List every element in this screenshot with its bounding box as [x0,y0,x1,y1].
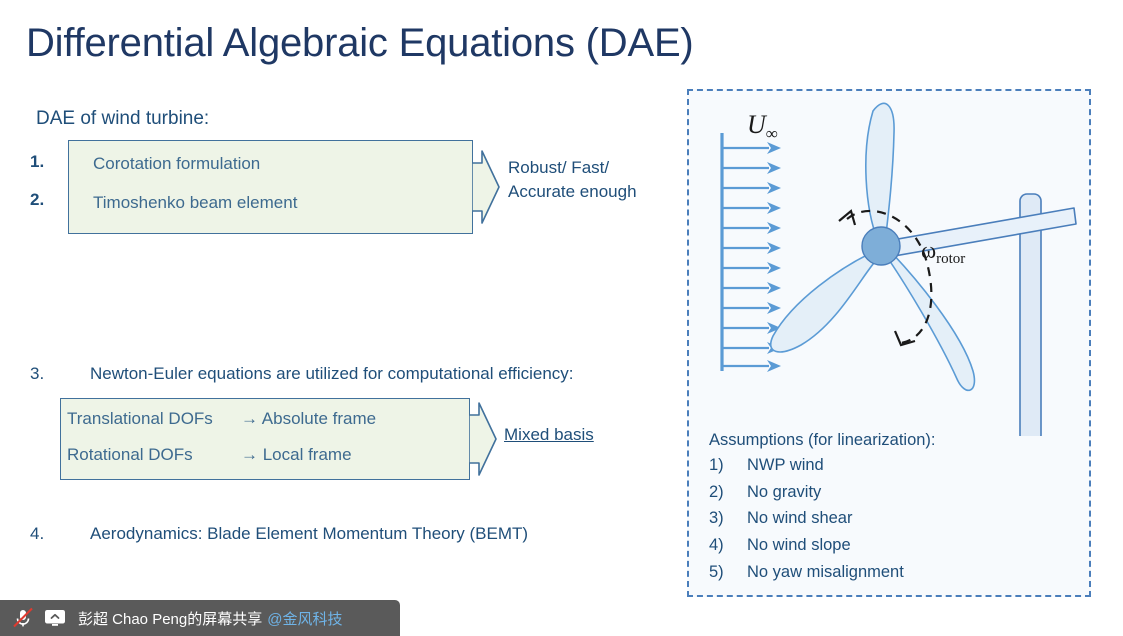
page-title: Differential Algebraic Equations (DAE) [26,20,694,67]
assumption-item: 2) No gravity [709,479,1069,506]
assumption-item: 1) NWP wind [709,452,1069,479]
callout2-note: Mixed basis [504,423,594,447]
wind-speed-label: U∞ [747,110,778,143]
dae-heading: DAE of wind turbine: [36,108,209,130]
slide-canvas: Differential Algebraic Equations (DAE) D… [0,0,1123,636]
turbine-nacelle [881,208,1076,258]
turbine-diagram-panel: U∞ ωrotor Assumptions (for linearization… [687,89,1091,597]
blade-lower-left [771,251,879,352]
wind-turbine-illustration: U∞ ωrotor [689,91,1093,436]
screen-share-bar: 彭超 Chao Peng的屏幕共享 @金风科技 [0,600,400,636]
left-content-column: DAE of wind turbine: 1. 2. Corotation fo… [0,96,680,596]
list-item-3-text: Newton-Euler equations are utilized for … [90,364,574,384]
assumption-text: No gravity [747,479,821,506]
list-marker-1: 1. [30,152,44,172]
list-marker-2: 2. [30,190,44,210]
blade-upper [866,103,894,243]
callout1-line1: Corotation formulation [93,154,260,174]
assumption-text: No wind shear [747,505,852,532]
list-item-4-text: Aerodynamics: Blade Element Momentum The… [90,524,528,544]
assumption-marker: 2) [709,479,747,506]
callout1-line2: Timoshenko beam element [93,193,297,213]
callout2-row1-right: → Absolute frame [241,409,376,429]
assumptions-block: Assumptions (for linearization): 1) NWP … [709,431,1069,586]
assumptions-title: Assumptions (for linearization): [709,431,1069,450]
assumption-item: 5) No yaw misalignment [709,559,1069,586]
assumption-marker: 1) [709,452,747,479]
arrow-tip-icon [469,401,497,477]
assumption-text: NWP wind [747,452,824,479]
screen-share-icon[interactable] [42,607,68,629]
assumption-item: 4) No wind slope [709,532,1069,559]
list-marker-3: 3. [30,364,44,384]
microphone-muted-icon[interactable] [10,607,36,629]
callout1-note: Robust/ Fast/ Accurate enough [508,156,637,204]
callout2-row2-right: → Local frame [241,445,352,465]
share-title: 彭超 Chao Peng的屏幕共享 [78,608,262,629]
arrow-tip-icon [472,149,500,225]
share-handle: @金风科技 [267,608,342,629]
assumption-marker: 4) [709,532,747,559]
callout2-row1-left: Translational DOFs [67,409,213,429]
assumption-item: 3) No wind shear [709,505,1069,532]
assumption-text: No wind slope [747,532,851,559]
assumption-marker: 3) [709,505,747,532]
assumption-text: No yaw misalignment [747,559,904,586]
callout-box-formulation: Corotation formulation Timoshenko beam e… [68,140,473,234]
callout2-row2-left: Rotational DOFs [67,445,193,465]
callout-box-dofs: Translational DOFs → Absolute frame Rota… [60,398,470,480]
turbine-hub [862,227,900,265]
assumption-marker: 5) [709,559,747,586]
list-marker-4: 4. [30,524,44,544]
